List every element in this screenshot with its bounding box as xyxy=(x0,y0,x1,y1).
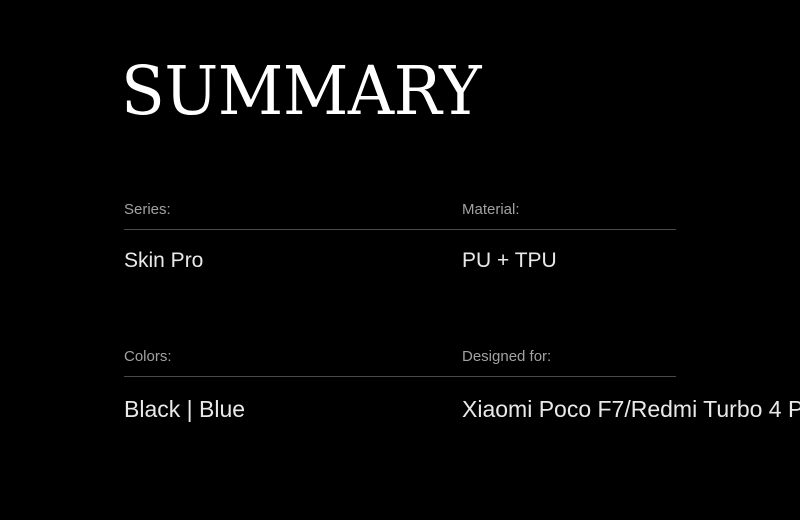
spec-row-labels: Series: Material: xyxy=(124,200,676,222)
spec-grid: Series: Material: Skin Pro PU + TPU C xyxy=(124,200,676,424)
spec-row-labels: Colors: Designed for: xyxy=(124,347,676,369)
spec-label-material: Material: xyxy=(462,201,520,218)
spec-value-designed-for: Xiaomi Poco F7/Redmi Turbo 4 Pro xyxy=(462,396,800,422)
spec-cell-designed-for: Designed for: xyxy=(462,347,676,369)
spec-row: Colors: Designed for: Black | Blue Xiaom… xyxy=(124,347,676,424)
spec-row-divider xyxy=(124,229,676,230)
spec-value-colors: Black | Blue xyxy=(124,396,245,422)
spec-value-cell-designed-for: Xiaomi Poco F7/Redmi Turbo 4 Pro xyxy=(462,394,800,424)
spec-value-cell-material: PU + TPU xyxy=(462,247,676,277)
spec-row: Series: Material: Skin Pro PU + TPU xyxy=(124,200,676,277)
spec-value-cell-colors: Black | Blue xyxy=(124,394,462,424)
spec-label-series: Series: xyxy=(124,201,171,218)
page-title: SUMMARY xyxy=(121,58,481,126)
spec-value-material: PU + TPU xyxy=(462,249,557,272)
spec-row-values: Black | Blue Xiaomi Poco F7/Redmi Turbo … xyxy=(124,394,676,424)
spec-label-designed-for: Designed for: xyxy=(462,348,551,365)
spec-row-values: Skin Pro PU + TPU xyxy=(124,247,676,277)
spec-cell-series: Series: xyxy=(124,200,462,222)
spec-cell-material: Material: xyxy=(462,200,676,222)
summary-slide: SUMMARY Series: Material: Skin Pro PU + … xyxy=(0,0,800,520)
spec-cell-colors: Colors: xyxy=(124,347,462,369)
spec-row-divider xyxy=(124,376,676,377)
spec-value-cell-series: Skin Pro xyxy=(124,247,462,277)
spec-value-series: Skin Pro xyxy=(124,249,203,272)
spec-label-colors: Colors: xyxy=(124,348,172,365)
